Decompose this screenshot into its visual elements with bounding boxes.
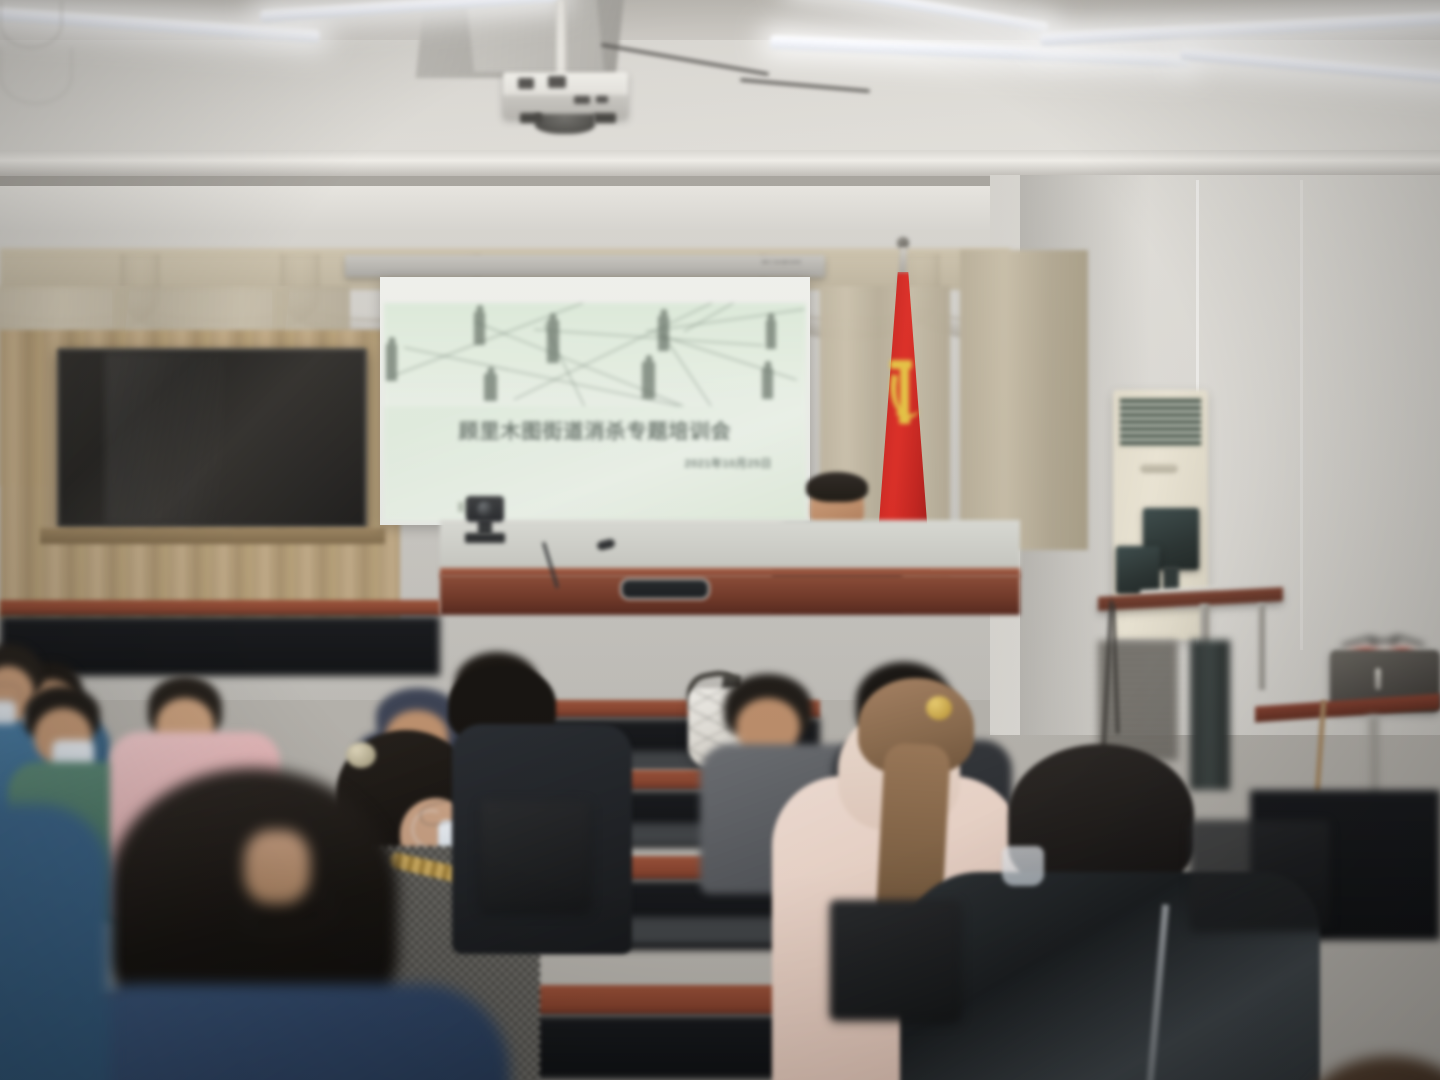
projector-lens [535,114,595,134]
slide-date: 2021年10月25日 [685,455,772,471]
display-shelf [40,528,385,544]
hanging-wire [0,0,62,48]
equipment-tower [1190,640,1230,790]
meeting-room-photo: MITSUBISHI 顾里木图街道消杀专题培训会 2021年10月25日 [0,0,1440,1080]
hair-clip [346,742,376,768]
hair-tie [926,696,952,720]
speaker-hair [806,472,868,502]
air-conditioner-badge [1140,464,1178,473]
hammer-and-sickle-emblem [886,358,924,430]
air-conditioner-grille [1118,396,1203,448]
projector-connector [596,96,608,103]
ear [244,830,310,904]
projector-foot [520,113,542,123]
display-glare [105,352,225,524]
projected-slide: 顾里木图街道消杀专题培训会 2021年10月25日 [384,303,806,521]
ceiling-vent-panel-secondary [466,0,604,72]
projector-connector [548,76,566,88]
projector-mount-arm [556,0,567,78]
head-desk-front-panel [440,520,1020,572]
camera-lens [477,501,493,517]
slide-network-graphic [384,303,806,406]
projection-screen-housing [345,255,825,277]
chair-back [480,800,590,910]
projector-connector [574,96,590,104]
bag-zipper [1375,668,1381,690]
hanging-wire [0,48,72,104]
chair-back [1190,820,1330,930]
projector-connector [518,78,534,89]
curtain-panel-right [960,250,1088,550]
desk-cable-port [620,578,710,600]
desk-row-top [0,600,440,616]
av-control-monitor-secondary [1116,546,1160,594]
wall-seam [1300,180,1303,650]
equipment-rack [1098,640,1178,760]
head-desk [440,575,1020,615]
ceiling-beam [0,150,1440,176]
desk-leg [1258,604,1265,690]
projector-foot [594,113,616,123]
chair-back [830,900,960,1020]
slide-title: 顾里木图街道消杀专题培训会 [384,415,806,444]
projector-brand-label: MITSUBISHI [762,260,801,266]
